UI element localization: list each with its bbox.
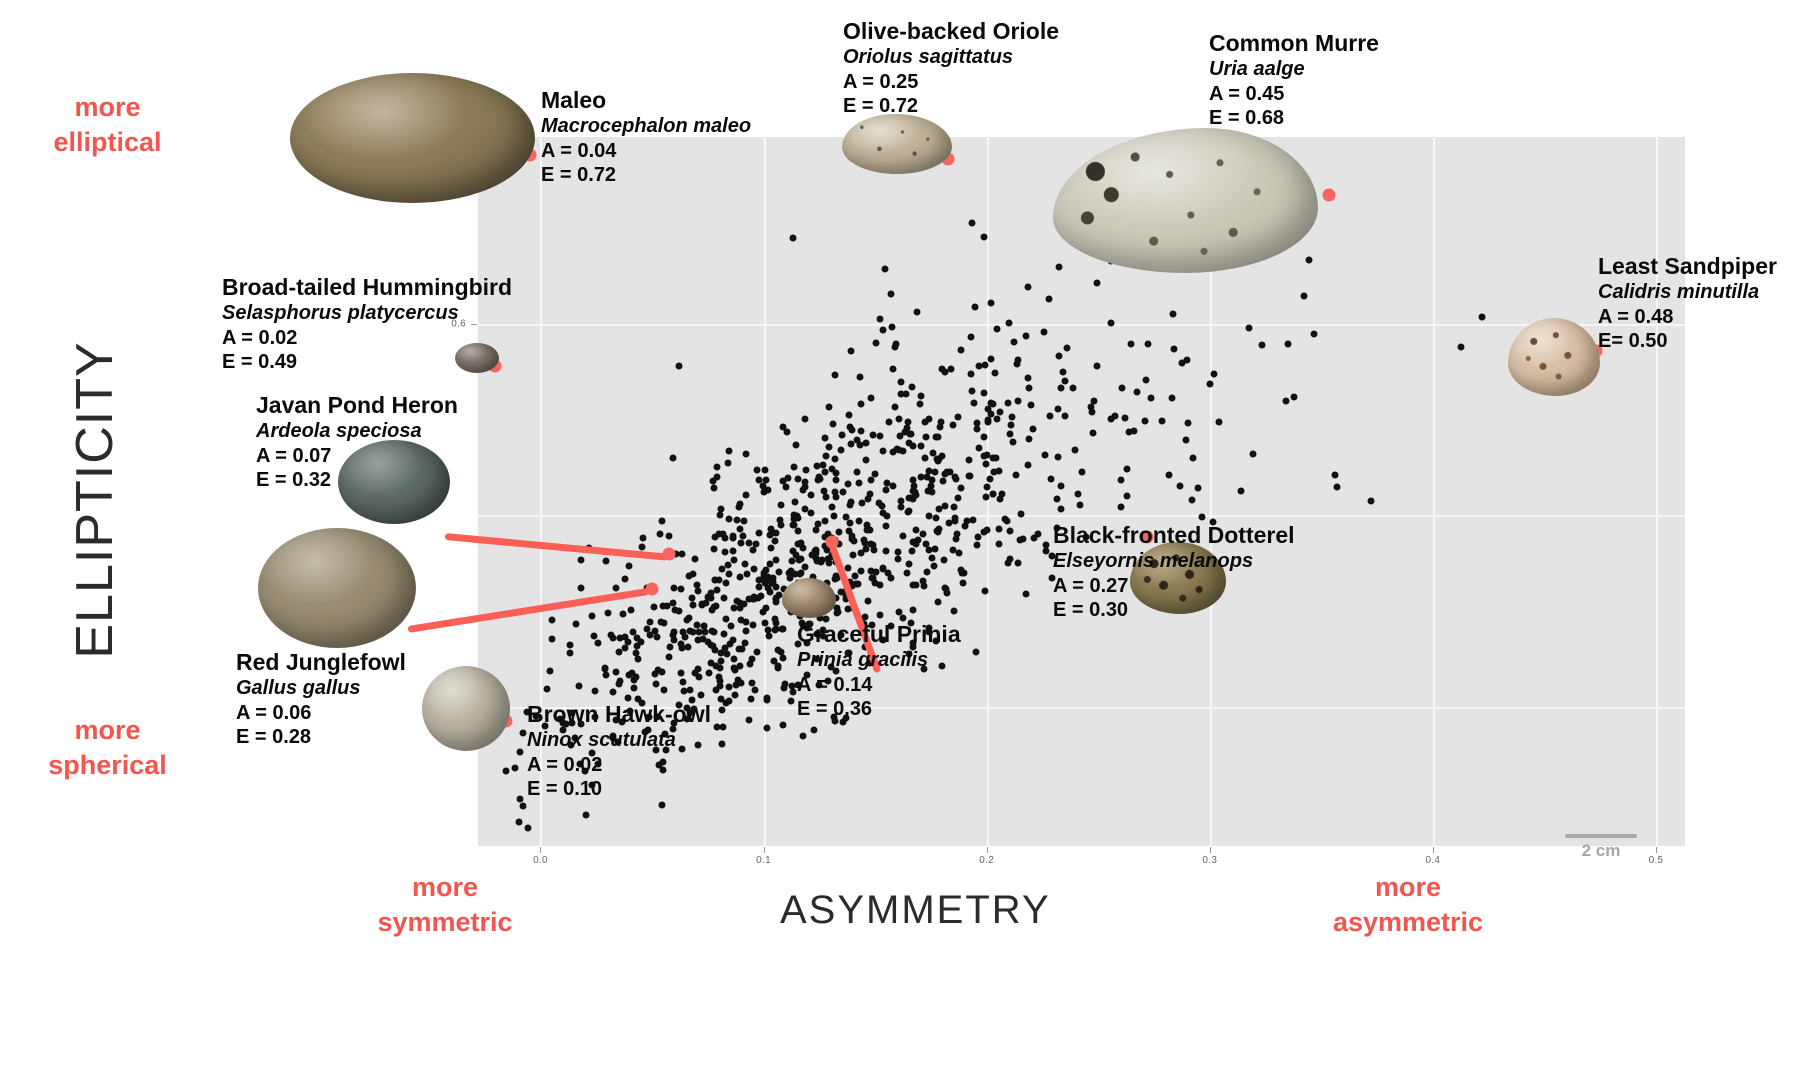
scatter-point: [1005, 319, 1012, 326]
scatter-point: [862, 440, 869, 447]
species-label-common-murre: Common Murre Uria aalge A = 0.45 E = 0.6…: [1209, 29, 1379, 131]
scatter-point: [997, 409, 1004, 416]
scatter-point: [983, 460, 990, 467]
annotation-line-2: spherical: [20, 748, 195, 783]
scatter-point: [932, 546, 939, 553]
scatter-point: [743, 492, 750, 499]
scatter-point: [785, 474, 792, 481]
x-tick-label: 0.2: [979, 855, 994, 866]
scatter-point: [821, 487, 828, 494]
scatter-point: [1285, 341, 1292, 348]
scatter-point: [750, 596, 757, 603]
species-ellipticity-value: E = 0.72: [541, 163, 751, 188]
scatter-point: [984, 526, 991, 533]
scatter-point: [797, 556, 804, 563]
scatter-point: [955, 413, 962, 420]
scatter-point: [839, 489, 846, 496]
scatter-point: [749, 679, 756, 686]
scatter-point: [847, 499, 854, 506]
annotation-line-1: more: [355, 870, 535, 905]
species-common-name: Least Sandpiper: [1598, 252, 1777, 280]
scatter-point: [725, 516, 732, 523]
scatter-point: [602, 557, 609, 564]
scatter-point: [1070, 384, 1077, 391]
scatter-point: [1169, 311, 1176, 318]
scatter-point: [1077, 502, 1084, 509]
scatter-point: [981, 434, 988, 441]
scatter-point: [629, 629, 636, 636]
scatter-point: [847, 520, 854, 527]
scatter-point: [968, 334, 975, 341]
scatter-point: [678, 670, 685, 677]
species-label-least-sandpiper: Least Sandpiper Calidris minutilla A = 0…: [1598, 252, 1777, 354]
scatter-point: [1142, 418, 1149, 425]
scatter-point: [512, 764, 519, 771]
scatter-point: [1245, 324, 1252, 331]
scatter-point: [1165, 471, 1172, 478]
figure-canvas: 0.00.10.20.30.40.50.20.6: [0, 0, 1804, 1087]
scatter-point: [897, 497, 904, 504]
scatter-point: [741, 561, 748, 568]
scatter-point: [756, 529, 763, 536]
scatter-point: [1024, 284, 1031, 291]
scatter-point: [609, 689, 616, 696]
annotation-more-symmetric: more symmetric: [355, 870, 535, 939]
scatter-point: [912, 581, 919, 588]
scatter-point: [897, 391, 904, 398]
scatter-point: [995, 525, 1002, 532]
scatter-point: [982, 362, 989, 369]
highlight-marker-javan-pond-heron[interactable]: [663, 548, 676, 561]
scatter-point: [1158, 417, 1165, 424]
scatter-point: [926, 467, 933, 474]
scatter-point: [792, 498, 799, 505]
scatter-point: [773, 596, 780, 603]
scatter-point: [1168, 395, 1175, 402]
scatter-point: [601, 665, 608, 672]
scatter-point: [935, 598, 942, 605]
scatter-point: [1093, 362, 1100, 369]
scatter-point: [867, 395, 874, 402]
scatter-point: [943, 589, 950, 596]
egg-image-brown-hawk-owl: [422, 666, 510, 751]
highlight-marker-graceful-prinia[interactable]: [826, 536, 839, 549]
scatter-point: [1182, 437, 1189, 444]
scatter-point: [885, 418, 892, 425]
scatter-point: [894, 556, 901, 563]
species-asymmetry-value: A = 0.07: [256, 444, 458, 469]
scatter-point: [974, 426, 981, 433]
x-tick: [1433, 847, 1434, 853]
scatter-point: [616, 681, 623, 688]
scatter-point: [719, 530, 726, 537]
scatter-point: [775, 569, 782, 576]
scatter-point: [680, 679, 687, 686]
scatter-point: [752, 686, 759, 693]
scatter-point: [934, 455, 941, 462]
scatter-point: [882, 523, 889, 530]
scatter-point: [922, 454, 929, 461]
egg-image-red-junglefowl: [258, 528, 416, 648]
scatter-point: [740, 532, 747, 539]
scatter-point: [923, 568, 930, 575]
scatter-point: [848, 426, 855, 433]
scatter-point: [1368, 498, 1375, 505]
species-label-red-junglefowl: Red Junglefowl Gallus gallus A = 0.06 E …: [236, 648, 406, 750]
scatter-point: [694, 665, 701, 672]
scatter-point: [772, 620, 779, 627]
scatter-point: [969, 517, 976, 524]
scatter-point: [659, 802, 666, 809]
scatter-point: [869, 541, 876, 548]
species-ellipticity-value: E= 0.50: [1598, 329, 1777, 354]
annotation-line-2: asymmetric: [1313, 905, 1503, 940]
scatter-point: [855, 580, 862, 587]
species-label-olive-backed-oriole: Olive-backed Oriole Oriolus sagittatus A…: [843, 17, 1059, 119]
scatter-point: [1007, 527, 1014, 534]
scatter-point: [802, 466, 809, 473]
scatter-point: [1047, 476, 1054, 483]
annotation-line-2: elliptical: [20, 125, 195, 160]
scatter-point: [516, 818, 523, 825]
x-tick-label: 0.4: [1425, 855, 1440, 866]
scatter-point: [653, 633, 660, 640]
scatter-point: [811, 548, 818, 555]
annotation-line-1: more: [20, 90, 195, 125]
scatter-point: [669, 454, 676, 461]
scatter-point: [1189, 497, 1196, 504]
scatter-point: [1118, 476, 1125, 483]
egg-image-maleo: [290, 73, 535, 203]
species-label-graceful-prinia: Graceful Prinia Prinia gracilis A = 0.14…: [797, 620, 961, 722]
scatter-point: [1185, 419, 1192, 426]
scatter-point: [549, 617, 556, 624]
scatter-point: [607, 631, 614, 638]
species-asymmetry-value: A = 0.48: [1598, 305, 1777, 330]
gridline-vertical: [1656, 137, 1658, 846]
scatter-point: [763, 725, 770, 732]
scatter-point: [1004, 400, 1011, 407]
scatter-point: [833, 494, 840, 501]
scatter-point: [583, 811, 590, 818]
scatter-point: [891, 404, 898, 411]
scatter-point: [947, 366, 954, 373]
scatter-point: [778, 521, 785, 528]
scatter-point: [788, 557, 795, 564]
scatter-point: [790, 689, 797, 696]
scatter-point: [814, 558, 821, 565]
scatter-point: [796, 570, 803, 577]
scatter-point: [981, 453, 988, 460]
scatter-point: [814, 463, 821, 470]
scatter-point: [816, 473, 823, 480]
scatter-point: [1022, 591, 1029, 598]
scatter-point: [590, 633, 597, 640]
scatter-point: [859, 500, 866, 507]
scatter-point: [780, 625, 787, 632]
scatter-point: [1088, 404, 1095, 411]
scatter-point: [1093, 279, 1100, 286]
scatter-point: [1178, 359, 1185, 366]
species-ellipticity-value: E = 0.28: [236, 725, 406, 750]
scatter-point: [848, 347, 855, 354]
scatter-point: [745, 717, 752, 724]
scatter-point: [830, 421, 837, 428]
scatter-point: [1064, 345, 1071, 352]
scatter-point: [768, 529, 775, 536]
scatter-point: [1041, 451, 1048, 458]
scatter-point: [876, 432, 883, 439]
scatter-point: [728, 623, 735, 630]
scatter-point: [722, 580, 729, 587]
scatter-point: [637, 638, 644, 645]
scatter-point: [891, 343, 898, 350]
scatter-point: [685, 572, 692, 579]
scatter-point: [1311, 330, 1318, 337]
scatter-point: [935, 506, 942, 513]
scatter-point: [1199, 514, 1206, 521]
scatter-point: [717, 665, 724, 672]
scatter-point: [1195, 484, 1202, 491]
scatter-point: [721, 630, 728, 637]
scatter-point: [923, 434, 930, 441]
scatter-point: [1107, 319, 1114, 326]
scatter-point: [716, 511, 723, 518]
scatter-point: [711, 577, 718, 584]
scatter-point: [1189, 455, 1196, 462]
egg-image-common-murre: [1053, 128, 1318, 273]
scatter-point: [742, 450, 749, 457]
scatter-point: [704, 638, 711, 645]
scatter-point: [788, 697, 795, 704]
scatter-point: [782, 483, 789, 490]
species-common-name: Javan Pond Heron: [256, 391, 458, 419]
scatter-point: [970, 400, 977, 407]
scatter-point: [987, 356, 994, 363]
species-ellipticity-value: E = 0.72: [843, 94, 1059, 119]
scatter-point: [929, 449, 936, 456]
annotation-line-1: more: [1313, 870, 1503, 905]
scatter-point: [713, 464, 720, 471]
scatter-point: [959, 579, 966, 586]
scatter-point: [613, 669, 620, 676]
scatter-point: [771, 658, 778, 665]
scatter-point: [665, 532, 672, 539]
scatter-point: [957, 567, 964, 574]
scatter-point: [753, 541, 760, 548]
egg-image-graceful-prinia: [782, 578, 836, 618]
scatter-point: [767, 545, 774, 552]
highlight-marker-common-murre[interactable]: [1323, 189, 1336, 202]
scatter-point: [646, 631, 653, 638]
scatter-point: [919, 577, 926, 584]
scatter-point: [890, 482, 897, 489]
scatter-point: [867, 477, 874, 484]
species-asymmetry-value: A = 0.02: [527, 753, 711, 778]
egg-image-least-sandpiper: [1508, 318, 1600, 396]
scatter-point: [942, 503, 949, 510]
scatter-point: [879, 502, 886, 509]
scatter-point: [981, 390, 988, 397]
species-scientific-name: Macrocephalon maleo: [541, 114, 751, 139]
scatter-point: [1030, 426, 1037, 433]
scatter-point: [813, 527, 820, 534]
scatter-point: [879, 447, 886, 454]
scatter-point: [670, 632, 677, 639]
x-tick-label: 0.1: [756, 855, 771, 866]
scatter-point: [543, 685, 550, 692]
scatter-point: [670, 585, 677, 592]
scatter-point: [718, 707, 725, 714]
scatter-point: [1008, 422, 1015, 429]
species-scientific-name: Elseyornis melanops: [1053, 549, 1295, 574]
scatter-point: [567, 649, 574, 656]
scatter-point: [646, 618, 653, 625]
scatter-point: [705, 670, 712, 677]
scatter-point: [684, 617, 691, 624]
scatter-point: [801, 564, 808, 571]
scatter-point: [1046, 296, 1053, 303]
scatter-point: [520, 802, 527, 809]
species-common-name: Maleo: [541, 86, 751, 114]
scatter-point: [772, 584, 779, 591]
species-ellipticity-value: E = 0.68: [1209, 106, 1379, 131]
scatter-point: [761, 619, 768, 626]
scatter-point: [751, 565, 758, 572]
species-ellipticity-value: E = 0.10: [527, 777, 711, 802]
scatter-point: [1258, 341, 1265, 348]
scatter-point: [1148, 394, 1155, 401]
scatter-point: [793, 442, 800, 449]
scatter-point: [888, 291, 895, 298]
scatter-point: [675, 608, 682, 615]
scatter-point: [838, 431, 845, 438]
scatter-point: [730, 548, 737, 555]
scatter-point: [896, 433, 903, 440]
scatter-point: [650, 604, 657, 611]
scatter-point: [1062, 412, 1069, 419]
species-common-name: Broad-tailed Hummingbird: [222, 273, 512, 301]
scatter-point: [784, 428, 791, 435]
scatter-point: [992, 370, 999, 377]
scatter-point: [869, 432, 876, 439]
scatter-point: [736, 574, 743, 581]
scatter-point: [572, 621, 579, 628]
scatter-point: [883, 487, 890, 494]
scatter-point: [684, 643, 691, 650]
scatter-point: [737, 526, 744, 533]
scatter-point: [906, 561, 913, 568]
scatter-point: [883, 512, 890, 519]
scatter-point: [726, 447, 733, 454]
scatter-point: [762, 466, 769, 473]
scatter-point: [861, 536, 868, 543]
scatter-point: [789, 235, 796, 242]
scatter-point: [622, 576, 629, 583]
y-axis-title: ELLIPTICITY: [65, 300, 125, 700]
scatter-point: [871, 471, 878, 478]
scatter-point: [1013, 472, 1020, 479]
scatter-point: [789, 548, 796, 555]
species-scientific-name: Selasphorus platycercus: [222, 301, 512, 326]
scatter-point: [1075, 491, 1082, 498]
scatter-point: [937, 418, 944, 425]
scatter-point: [1216, 418, 1223, 425]
scatter-point: [1010, 438, 1017, 445]
scatter-point: [968, 387, 975, 394]
scatter-point: [848, 536, 855, 543]
scatter-point: [971, 304, 978, 311]
scatter-point: [1018, 510, 1025, 517]
scatter-point: [801, 416, 808, 423]
scatter-point: [677, 640, 684, 647]
scatter-point: [711, 484, 718, 491]
species-asymmetry-value: A = 0.14: [797, 673, 961, 698]
scatter-point: [638, 543, 645, 550]
annotation-more-elliptical: more elliptical: [20, 90, 195, 159]
x-tick-label: 0.5: [1649, 855, 1664, 866]
scatter-point: [711, 545, 718, 552]
scatter-point: [676, 363, 683, 370]
scatter-point: [982, 587, 989, 594]
scatter-point: [1108, 415, 1115, 422]
x-tick: [987, 847, 988, 853]
species-ellipticity-value: E = 0.30: [1053, 598, 1295, 623]
scatter-point: [779, 721, 786, 728]
scatter-point: [877, 316, 884, 323]
species-scientific-name: Ardeola speciosa: [256, 419, 458, 444]
scatter-point: [983, 483, 990, 490]
scatter-point: [986, 476, 993, 483]
scatter-point: [720, 595, 727, 602]
scatter-point: [633, 650, 640, 657]
scatter-point: [520, 729, 527, 736]
highlight-marker-red-junglefowl[interactable]: [646, 583, 659, 596]
scatter-point: [714, 587, 721, 594]
scatter-point: [842, 513, 849, 520]
scatter-point: [1024, 462, 1031, 469]
scatter-point: [854, 469, 861, 476]
scatter-point: [975, 534, 982, 541]
scatter-point: [1250, 450, 1257, 457]
scatter-point: [1014, 361, 1021, 368]
scatter-point: [678, 585, 685, 592]
scatter-point: [880, 326, 887, 333]
scatter-point: [811, 727, 818, 734]
scatter-point: [1130, 427, 1137, 434]
scatter-point: [912, 492, 919, 499]
scatter-point: [802, 479, 809, 486]
scatter-point: [898, 503, 905, 510]
scatter-point: [639, 534, 646, 541]
scatter-point: [1057, 505, 1064, 512]
scatter-point: [879, 565, 886, 572]
scatter-point: [1090, 430, 1097, 437]
scatter-point: [604, 610, 611, 617]
scatter-point: [711, 533, 718, 540]
scatter-point: [932, 515, 939, 522]
scatter-point: [951, 503, 958, 510]
scatter-point: [904, 509, 911, 516]
scatter-point: [966, 457, 973, 464]
scatter-point: [913, 527, 920, 534]
scale-bar: [1565, 834, 1637, 838]
species-asymmetry-value: A = 0.02: [222, 326, 512, 351]
scatter-point: [769, 574, 776, 581]
scatter-point: [748, 695, 755, 702]
scatter-point: [763, 477, 770, 484]
scatter-point: [928, 489, 935, 496]
